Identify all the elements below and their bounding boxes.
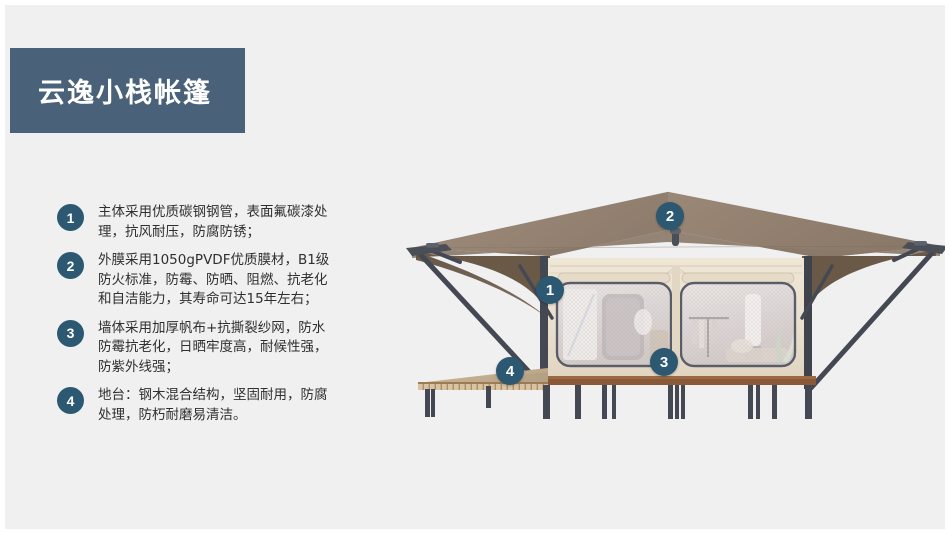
page-title: 云逸小栈帐篷 [38, 71, 212, 110]
image-callout-1[interactable]: 1 [536, 276, 564, 304]
feature-text-1: 主体采用优质碳钢钢管，表面氟碳漆处理，抗风耐压，防腐防锈； [98, 203, 336, 242]
feature-item-1: 1 主体采用优质碳钢钢管，表面氟碳漆处理，抗风耐压，防腐防锈； [57, 203, 357, 242]
steel-post-right [804, 256, 812, 389]
feature-item-3: 3 墙体采用加厚帆布+抗撕裂纱网，防水防霉抗老化，日晒牢度高，耐候性强，防紫外线… [57, 319, 357, 378]
feature-item-2: 2 外膜采用1050gPVDF优质膜材，B1级防火标准，防霉、防晒、阻燃、抗老化… [57, 251, 357, 310]
feature-text-4: 地台：钢木混合结构，坚固耐用，防腐处理，防朽耐磨易清洁。 [98, 386, 336, 425]
feature-badge-2: 2 [57, 252, 84, 279]
deck-support-legs [425, 385, 812, 419]
image-callout-4[interactable]: 4 [496, 357, 524, 385]
feature-text-3: 墙体采用加厚帆布+抗撕裂纱网，防水防霉抗老化，日晒牢度高，耐候性强，防紫外线强； [98, 319, 336, 378]
window-right [681, 283, 795, 366]
feature-item-4: 4 地台：钢木混合结构，坚固耐用，防腐处理，防朽耐磨易清洁。 [57, 386, 357, 425]
feature-badge-3: 3 [57, 320, 84, 347]
feature-badge-1: 1 [57, 204, 84, 231]
page-title-banner: 云逸小栈帐篷 [10, 48, 245, 133]
image-callout-2[interactable]: 2 [656, 202, 684, 230]
feature-badge-4: 4 [57, 387, 84, 414]
feature-list: 1 主体采用优质碳钢钢管，表面氟碳漆处理，抗风耐压，防腐防锈； 2 外膜采用10… [57, 203, 357, 434]
tent-illustration: 1 2 3 4 [400, 170, 950, 435]
slide-canvas: 云逸小栈帐篷 1 主体采用优质碳钢钢管，表面氟碳漆处理，抗风耐压，防腐防锈； 2… [0, 0, 950, 534]
image-callout-3[interactable]: 3 [650, 348, 678, 376]
feature-text-2: 外膜采用1050gPVDF优质膜材，B1级防火标准，防霉、防晒、阻燃、抗老化和自… [98, 251, 336, 310]
